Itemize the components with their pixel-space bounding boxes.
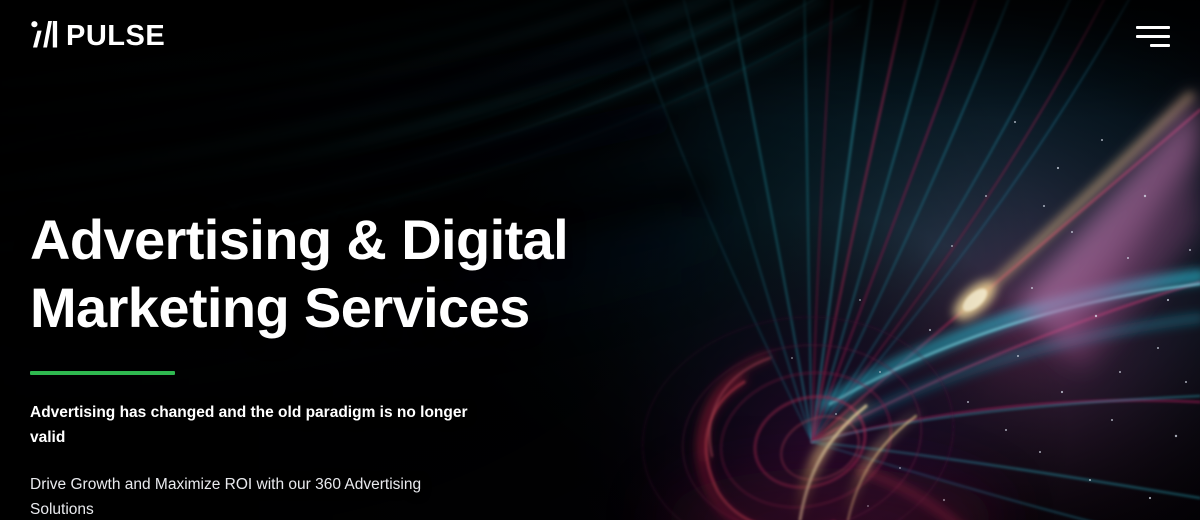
hamburger-bar-top xyxy=(1136,26,1170,29)
in-monogram-icon xyxy=(30,19,64,54)
hamburger-bar-middle xyxy=(1136,35,1170,38)
hero-subheading: Advertising has changed and the old para… xyxy=(30,400,500,450)
accent-divider xyxy=(30,371,175,375)
brand-wordmark: PULSE xyxy=(66,22,165,51)
hero-banner: PULSE Advertising & Digital Marketing Se… xyxy=(0,0,1200,520)
headline-line-1: Advertising & Digital xyxy=(30,208,568,271)
brand-logo[interactable]: PULSE xyxy=(30,19,165,54)
site-header: PULSE xyxy=(0,0,1200,72)
hamburger-bar-bottom xyxy=(1150,44,1170,47)
page-title: Advertising & Digital Marketing Services xyxy=(30,206,650,343)
hero-copy-block: Advertising & Digital Marketing Services… xyxy=(30,206,650,520)
headline-line-2: Marketing Services xyxy=(30,276,530,339)
hamburger-menu-icon[interactable] xyxy=(1136,22,1170,51)
hero-lede-text: Drive Growth and Maximize ROI with our 3… xyxy=(30,472,480,520)
